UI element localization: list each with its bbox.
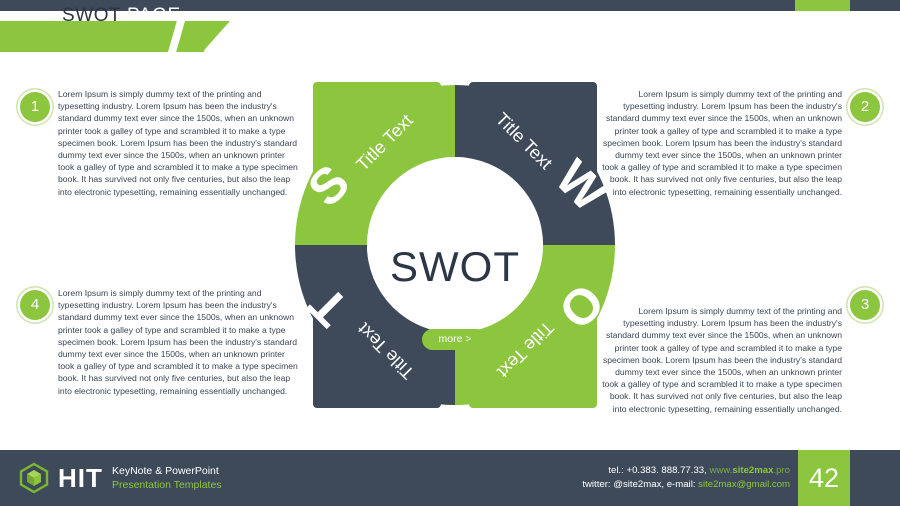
footer-contact: tel.: +0.383. 888.77.33, www.site2max.pr… xyxy=(582,464,790,491)
text-column-3: Lorem Ipsum is simply dummy text of the … xyxy=(597,305,842,415)
page-title: SWOT PAGE xyxy=(62,0,181,31)
footer-site-tld: .pro xyxy=(773,465,790,476)
footer-tagline-line2: Presentation Templates xyxy=(112,478,222,492)
text-column-4: Lorem Ipsum is simply dummy text of the … xyxy=(58,287,303,397)
page-number: 42 xyxy=(798,450,850,506)
more-button[interactable]: more > xyxy=(422,329,488,350)
hit-logo-icon xyxy=(18,462,50,499)
footer-tel: tel.: +0.383. 888.77.33, xyxy=(608,465,706,476)
footer-tagline-line1: KeyNote & PowerPoint xyxy=(112,464,222,478)
swot-diagram: S Title Text W Title Text O Title Text T… xyxy=(295,58,615,433)
footer: HIT KeyNote & PowerPoint Presentation Te… xyxy=(0,450,900,506)
hit-logo-wordmark: HIT xyxy=(58,463,103,494)
footer-contact-line1: tel.: +0.383. 888.77.33, www.site2max.pr… xyxy=(582,464,790,478)
number-badge-3[interactable]: 3 xyxy=(850,290,880,320)
top-bar-accent xyxy=(795,0,850,11)
footer-email[interactable]: site2max@gmail.com xyxy=(698,479,790,490)
footer-site-name[interactable]: site2max xyxy=(732,465,773,476)
swot-center-label: SWOT xyxy=(295,243,615,291)
footer-twitter: twitter: @site2max, e-mail: xyxy=(582,479,698,490)
footer-site-www: www. xyxy=(707,465,733,476)
number-badge-4[interactable]: 4 xyxy=(20,290,50,320)
text-column-1: Lorem Ipsum is simply dummy text of the … xyxy=(58,88,303,198)
page-title-primary: SWOT xyxy=(62,5,121,26)
number-badge-2[interactable]: 2 xyxy=(850,92,880,122)
text-column-2: Lorem Ipsum is simply dummy text of the … xyxy=(597,88,842,198)
page-title-secondary: PAGE xyxy=(121,5,181,26)
footer-contact-line2: twitter: @site2max, e-mail: site2max@gma… xyxy=(582,478,790,492)
number-badge-1[interactable]: 1 xyxy=(20,92,50,122)
footer-tagline: KeyNote & PowerPoint Presentation Templa… xyxy=(112,464,222,492)
